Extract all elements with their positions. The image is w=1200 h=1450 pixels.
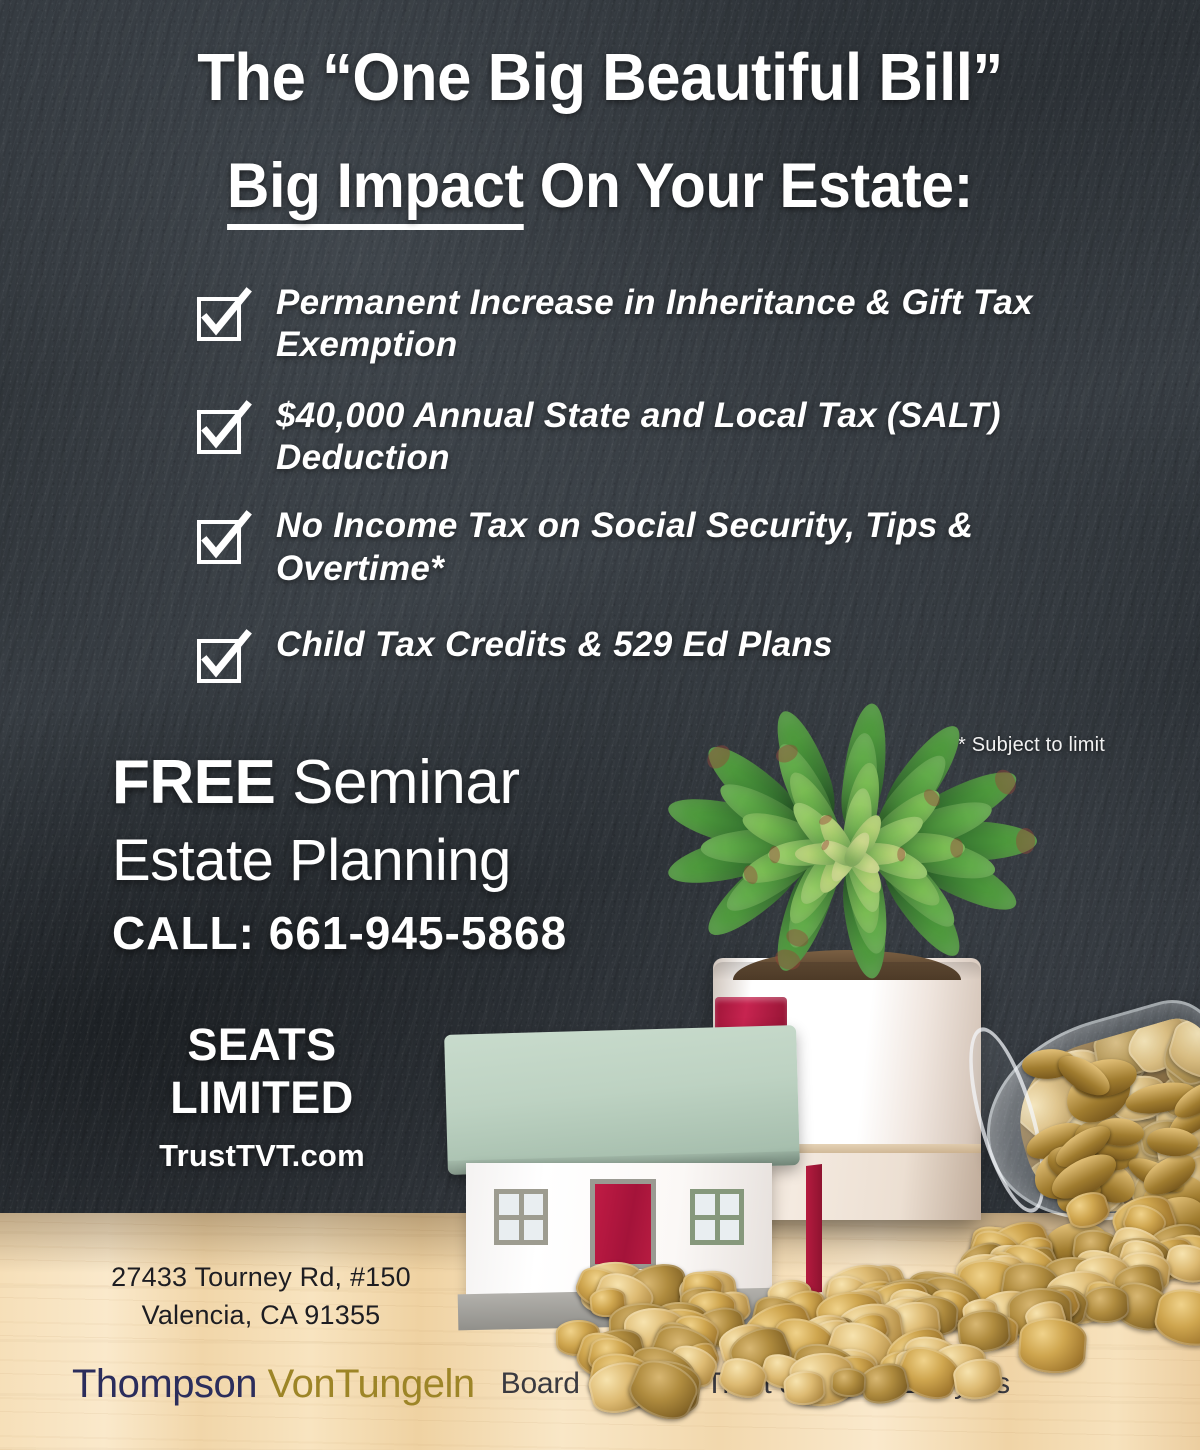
seminar-free-label: FREE: [112, 748, 292, 817]
website-link[interactable]: TrustTVT.com: [112, 1138, 412, 1174]
headline-block: The “One Big Beautiful Bill” Big Impact …: [0, 44, 1200, 218]
headline-primary: The “One Big Beautiful Bill”: [48, 44, 1152, 111]
benefits-checklist: Permanent Increase in Inheritance & Gift…: [196, 282, 1096, 712]
flyer-canvas: The “One Big Beautiful Bill” Big Impact …: [0, 0, 1200, 1450]
house-side-wall: [806, 1164, 822, 1294]
glass-jar-with-coins: [985, 1020, 1200, 1250]
seats-line-two: LIMITED: [112, 1071, 412, 1124]
house-front-wall: [466, 1163, 772, 1295]
headline-underlined-part: Big Impact: [227, 151, 524, 230]
house-door-panel: [595, 1184, 651, 1264]
address-city-state-zip: Valencia, CA 91355: [78, 1296, 444, 1334]
toy-house-model: [440, 1005, 810, 1343]
footnote-subject-to-limit: * Subject to limit: [958, 734, 1105, 757]
leaf-tip: [1016, 828, 1035, 854]
checkbox-checked-icon: [196, 513, 248, 565]
leaf-tip: [950, 838, 963, 857]
checklist-item-label: $40,000 Annual State and Local Tax (SALT…: [276, 395, 1096, 480]
checklist-item-label: No Income Tax on Social Security, Tips &…: [276, 505, 1096, 590]
checklist-item-label: Child Tax Credits & 529 Ed Plans: [276, 624, 833, 666]
firm-tagline: Board Certified Trust & Estate Lawyers: [501, 1367, 1010, 1401]
office-address: 27433 Tourney Rd, #150 Valencia, CA 9135…: [78, 1258, 444, 1335]
headline-secondary: Big Impact On Your Estate:: [42, 155, 1158, 218]
logo-word-thompson: Thompson: [72, 1362, 257, 1406]
seminar-cta-block: FREE Seminar Estate Planning CALL: 661-9…: [112, 752, 567, 956]
leaf-tip: [896, 847, 904, 861]
house-foundation: [458, 1288, 781, 1331]
house-roof: [444, 1025, 800, 1175]
house-window-right: [690, 1189, 744, 1245]
checkbox-checked-icon: [196, 290, 248, 342]
seats-line-one: SEATS: [112, 1018, 412, 1071]
checkbox-checked-icon: [196, 632, 248, 684]
checklist-item: No Income Tax on Social Security, Tips &…: [196, 505, 1096, 590]
house-window-left: [494, 1189, 548, 1245]
leaf-tip: [769, 846, 780, 863]
checklist-item: $40,000 Annual State and Local Tax (SALT…: [196, 395, 1096, 480]
checklist-item-label: Permanent Increase in Inheritance & Gift…: [276, 282, 1096, 367]
checklist-item: Child Tax Credits & 529 Ed Plans: [196, 624, 1096, 684]
leaf-tip: [703, 741, 734, 773]
firm-logo[interactable]: Thompson VonTungeln: [72, 1362, 475, 1407]
checklist-item: Permanent Increase in Inheritance & Gift…: [196, 282, 1096, 367]
seats-limited-block: SEATS LIMITED TrustTVT.com: [112, 1018, 412, 1174]
phone-call-to-action[interactable]: CALL: 661-945-5868: [112, 910, 567, 956]
leaf-tip: [991, 766, 1020, 797]
pot-rim: [713, 962, 981, 980]
house-door: [590, 1179, 656, 1269]
seminar-title-line: FREE Seminar: [112, 752, 567, 814]
checkbox-checked-icon: [196, 403, 248, 455]
seminar-word-label: Seminar: [292, 748, 519, 817]
seminar-subject-label: Estate Planning: [112, 832, 567, 890]
footer-bar: Thompson VonTungeln Board Certified Trus…: [0, 1358, 1200, 1410]
logo-word-vontungeln: VonTungeln: [257, 1362, 475, 1406]
headline-rest-part: On Your Estate:: [524, 151, 973, 221]
address-street: 27433 Tourney Rd, #150: [78, 1258, 444, 1296]
